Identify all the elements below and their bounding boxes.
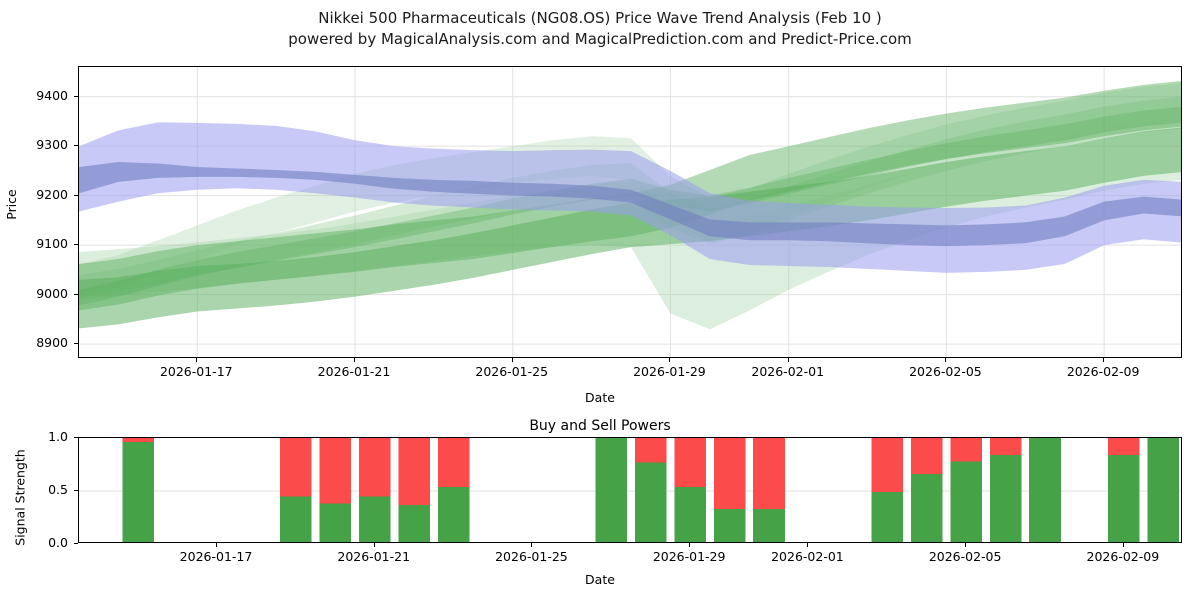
- signal-y-tick-mark: [74, 543, 78, 544]
- signal-y-axis-title: Signal Strength: [13, 449, 28, 545]
- signal-x-tick-mark: [965, 543, 966, 547]
- price-x-tick-label: 2026-02-05: [885, 364, 1005, 379]
- price-y-tick-mark: [74, 145, 78, 146]
- bar-segment-sell: [714, 438, 746, 509]
- bar-segment-buy: [438, 487, 470, 543]
- price-y-tick-mark: [74, 294, 78, 295]
- price-wave-bands: [79, 67, 1182, 358]
- price-y-tick-label: 8900: [10, 335, 68, 350]
- bar-segment-sell: [320, 438, 352, 504]
- signal-x-tick-label: 2026-01-25: [471, 549, 591, 564]
- bar-segment-buy: [990, 455, 1022, 543]
- price-x-tick-label: 2026-01-29: [609, 364, 729, 379]
- chart-page: Nikkei 500 Pharmaceuticals (NG08.OS) Pri…: [0, 0, 1200, 600]
- price-x-axis-title: Date: [0, 390, 1200, 405]
- signal-x-tick-mark: [216, 543, 217, 547]
- signal-chart-plot-area: [78, 437, 1182, 543]
- price-chart-plot-area: [78, 66, 1182, 358]
- price-y-tick-mark: [74, 343, 78, 344]
- price-y-tick-label: 9400: [10, 88, 68, 103]
- signal-x-tick-label: 2026-01-17: [156, 549, 276, 564]
- bar-segment-buy: [398, 505, 430, 543]
- signal-x-tick-mark: [807, 543, 808, 547]
- price-x-tick-label: 2026-01-25: [452, 364, 572, 379]
- signal-x-tick-label: 2026-02-09: [1063, 549, 1183, 564]
- bar-segment-sell: [872, 438, 904, 492]
- bar-segment-sell: [674, 438, 706, 487]
- bar-segment-sell: [753, 438, 785, 509]
- signal-y-tick-label: 1.0: [20, 429, 68, 444]
- bar-segment-buy: [911, 474, 943, 543]
- price-x-tick-label: 2026-01-17: [136, 364, 256, 379]
- bar-segment-buy: [1148, 438, 1180, 543]
- bar-segment-sell: [359, 438, 391, 496]
- signal-x-tick-label: 2026-02-01: [747, 549, 867, 564]
- bar-segment-sell: [398, 438, 430, 505]
- signal-x-tick-mark: [689, 543, 690, 547]
- title-line-1: Nikkei 500 Pharmaceuticals (NG08.OS) Pri…: [0, 8, 1200, 29]
- bar-segment-sell: [280, 438, 312, 496]
- bar-segment-buy: [872, 492, 904, 543]
- bar-segment-sell: [950, 438, 982, 461]
- bar-segment-buy: [753, 509, 785, 543]
- bar-segment-buy: [1108, 455, 1140, 543]
- signal-x-tick-label: 2026-02-05: [905, 549, 1025, 564]
- price-x-tick-label: 2026-01-21: [294, 364, 414, 379]
- bar-segment-sell: [438, 438, 470, 487]
- price-x-tick-label: 2026-02-01: [728, 364, 848, 379]
- page-title: Nikkei 500 Pharmaceuticals (NG08.OS) Pri…: [0, 8, 1200, 50]
- price-x-tick-mark: [354, 358, 355, 362]
- signal-x-axis-title: Date: [0, 572, 1200, 587]
- bar-segment-buy: [122, 442, 154, 543]
- bar-segment-buy: [596, 438, 628, 543]
- price-y-tick-label: 9000: [10, 286, 68, 301]
- bar-segment-buy: [635, 462, 667, 543]
- price-x-tick-mark: [669, 358, 670, 362]
- price-y-tick-mark: [74, 244, 78, 245]
- signal-y-tick-mark: [74, 490, 78, 491]
- price-y-tick-mark: [74, 96, 78, 97]
- signal-x-tick-label: 2026-01-29: [629, 549, 749, 564]
- signal-x-tick-mark: [374, 543, 375, 547]
- signal-x-tick-label: 2026-01-21: [314, 549, 434, 564]
- bar-segment-sell: [635, 438, 667, 462]
- signal-x-tick-mark: [531, 543, 532, 547]
- price-x-tick-mark: [196, 358, 197, 362]
- price-x-tick-mark: [1103, 358, 1104, 362]
- signal-y-tick-mark: [74, 437, 78, 438]
- title-line-2: powered by MagicalAnalysis.com and Magic…: [0, 29, 1200, 50]
- price-x-tick-mark: [945, 358, 946, 362]
- signal-chart-title: Buy and Sell Powers: [0, 418, 1200, 434]
- signal-bars: [79, 438, 1182, 543]
- price-y-axis-title: Price: [4, 189, 19, 220]
- bar-segment-sell: [122, 438, 154, 442]
- price-x-tick-mark: [788, 358, 789, 362]
- bar-segment-buy: [674, 487, 706, 543]
- signal-x-tick-mark: [1123, 543, 1124, 547]
- bar-segment-buy: [950, 461, 982, 543]
- bar-segment-buy: [359, 496, 391, 543]
- bar-segment-buy: [320, 504, 352, 543]
- bar-segment-buy: [714, 509, 746, 543]
- bar-segment-sell: [990, 438, 1022, 455]
- price-y-tick-mark: [74, 195, 78, 196]
- price-x-tick-mark: [512, 358, 513, 362]
- bar-segment-buy: [1029, 438, 1061, 543]
- bar-segment-buy: [280, 496, 312, 543]
- price-y-tick-label: 9100: [10, 236, 68, 251]
- bar-segment-sell: [911, 438, 943, 474]
- price-x-tick-label: 2026-02-09: [1043, 364, 1163, 379]
- price-y-tick-label: 9300: [10, 137, 68, 152]
- bar-segment-sell: [1108, 438, 1140, 455]
